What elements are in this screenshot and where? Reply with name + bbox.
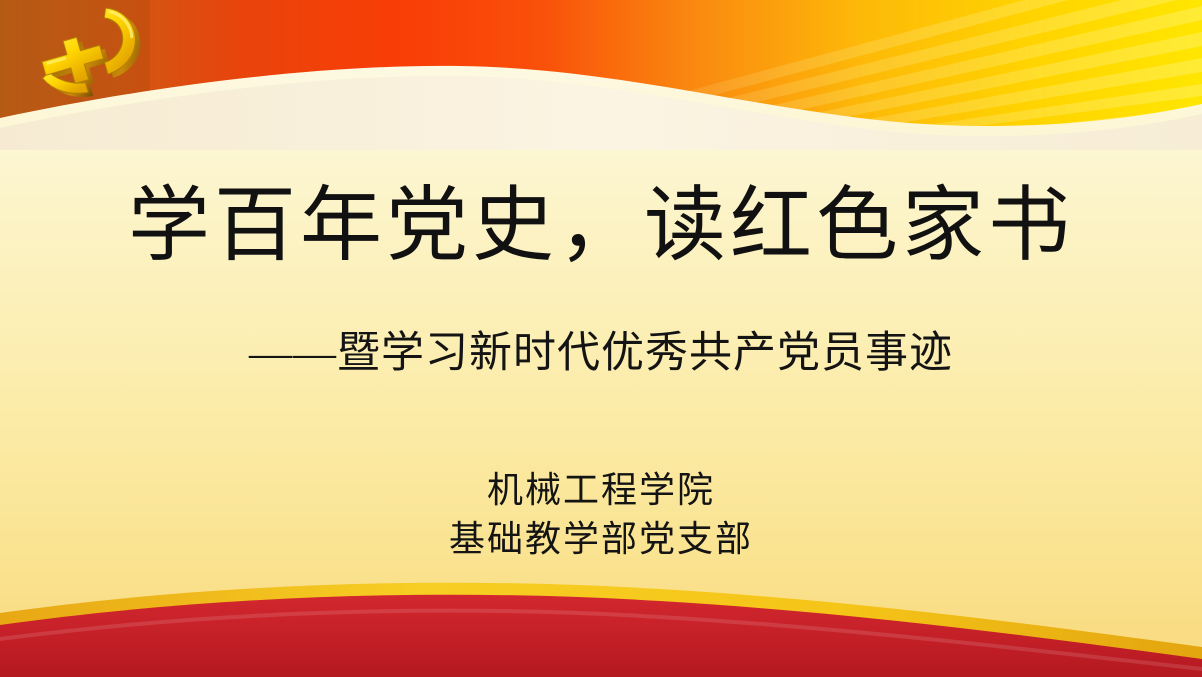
slide-title: 学百年党史，读红色家书 <box>0 183 1202 269</box>
slide-subtitle: ——暨学习新时代优秀共产党员事迹 <box>0 330 1202 377</box>
affiliation-line-1: 机械工程学院 <box>0 466 1202 515</box>
affiliation-block: 机械工程学院 基础教学部党支部 <box>0 466 1202 564</box>
affiliation-line-2: 基础教学部党支部 <box>0 515 1202 564</box>
slide-text-content: 学百年党史，读红色家书 ——暨学习新时代优秀共产党员事迹 机械工程学院 基础教学… <box>0 0 1202 677</box>
title-slide: 学百年党史，读红色家书 ——暨学习新时代优秀共产党员事迹 机械工程学院 基础教学… <box>0 0 1202 677</box>
